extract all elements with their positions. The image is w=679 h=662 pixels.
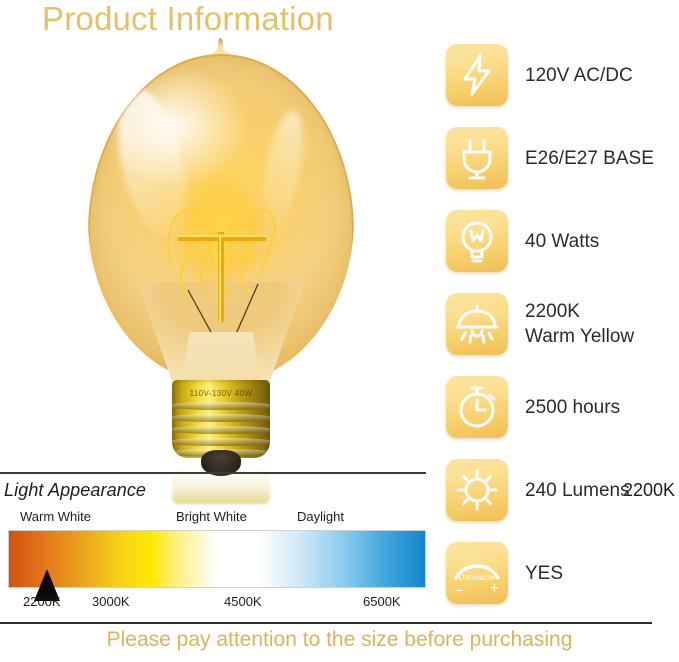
divider-top — [0, 472, 426, 474]
dimmable-minus-icon: − — [455, 583, 463, 597]
spec-value-base: E26/E27 BASE — [525, 127, 654, 189]
tick-6500k: 6500K — [363, 594, 401, 609]
spec-row-voltage: 120V AC/DC — [446, 44, 679, 127]
tick-4500k: 4500K — [224, 594, 262, 609]
zone-label-daylight: Daylight — [297, 509, 344, 524]
color-temperature-gradient-bar — [8, 530, 426, 588]
spec-value-line1: YES — [525, 561, 563, 586]
product-bulb-image: 110V-130V 40W — [60, 32, 380, 472]
base-marking: 110V-130V 40W — [172, 389, 270, 398]
cage-filament — [154, 172, 288, 342]
spec-value-line1: 2500 hours — [525, 395, 620, 420]
spec-value-color-temperature: 2200K Warm Yellow — [525, 293, 634, 355]
tick-2200k: 2200K — [23, 594, 61, 609]
plug-icon — [446, 127, 508, 189]
spec-row-base: E26/E27 BASE — [446, 127, 679, 210]
spec-value-dimmable: YES — [525, 542, 563, 604]
spec-value-lumens: 240 Lumens — [525, 459, 630, 521]
spec-row-wattage: 40 Watts — [446, 210, 679, 293]
spec-value-line1: 120V AC/DC — [525, 63, 633, 88]
spec-value-line1: E26/E27 BASE — [525, 146, 654, 171]
dimmable-plus-icon: + — [490, 581, 499, 597]
spec-value-line1: 240 Lumens — [525, 478, 630, 503]
product-information-infographic: Product Information — [0, 0, 679, 662]
spec-row-lumens: 240 Lumens — [446, 459, 679, 542]
sun-icon — [446, 459, 508, 521]
stopwatch-icon — [446, 376, 508, 438]
zone-label-warm-white: Warm White — [20, 509, 91, 524]
dimmable-icon: Dimmable − + — [446, 542, 508, 604]
light-appearance-title: Light Appearance — [4, 480, 146, 501]
bulb-reflection — [172, 464, 270, 504]
light-bulb-icon — [446, 210, 508, 272]
footer-note: Please pay attention to the size before … — [0, 628, 679, 652]
spec-row-lifespan: 2500 hours — [446, 376, 679, 459]
bulb-screw-base: 110V-130V 40W — [172, 380, 270, 458]
spec-row-color-temperature: 2200K Warm Yellow — [446, 293, 679, 376]
pendant-lamp-icon — [446, 293, 508, 355]
spec-value-voltage: 120V AC/DC — [525, 44, 633, 106]
spec-value-line1: 2200K — [525, 299, 634, 324]
spec-value-wattage: 40 Watts — [525, 210, 599, 272]
tick-3000k: 3000K — [92, 594, 130, 609]
spec-value-line1: 40 Watts — [525, 229, 599, 254]
spec-list: 120V AC/DC E26/E27 BASE — [446, 44, 679, 625]
spec-value-lifespan: 2500 hours — [525, 376, 620, 438]
spec-value-line2: Warm Yellow — [525, 324, 634, 349]
lightning-bolt-icon — [446, 44, 508, 106]
spec-row-dimmable: Dimmable − + YES — [446, 542, 679, 625]
zone-label-bright-white: Bright White — [176, 509, 247, 524]
